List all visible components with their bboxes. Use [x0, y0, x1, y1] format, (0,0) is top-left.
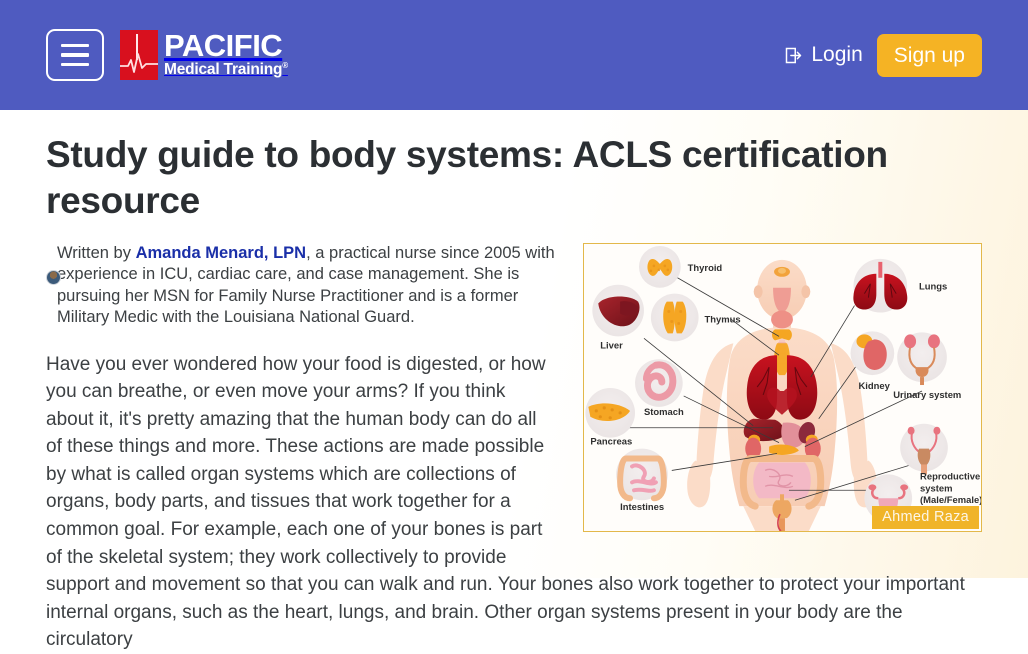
author-link[interactable]: Amanda Menard, LPN — [136, 244, 307, 262]
article-main: Study guide to body systems: ACLS certif… — [0, 110, 1028, 654]
organ-intestines — [616, 449, 668, 501]
svg-text:Urinary system: Urinary system — [893, 389, 961, 400]
hamburger-bar-1 — [61, 44, 89, 48]
svg-text:Stomach: Stomach — [644, 406, 684, 417]
page-title: Study guide to body systems: ACLS certif… — [46, 132, 946, 223]
sign-in-icon — [783, 45, 804, 66]
image-watermark: Ahmed Raza — [872, 506, 979, 529]
hamburger-bar-3 — [61, 63, 89, 67]
organ-stomach — [635, 359, 683, 407]
byline-prefix: Written by — [57, 244, 136, 262]
svg-text:Liver: Liver — [600, 339, 623, 350]
brand-name: PACIFIC — [164, 32, 288, 61]
svg-text:Kidney: Kidney — [858, 380, 890, 391]
login-link[interactable]: Login — [783, 43, 862, 67]
header-left-group: PACIFIC Medical Training® — [46, 29, 288, 81]
header-right-group: Login Sign up — [783, 34, 982, 77]
site-header: PACIFIC Medical Training® Login Sign up — [0, 0, 1028, 110]
author-avatar — [46, 270, 61, 285]
signup-button[interactable]: Sign up — [877, 34, 982, 77]
hamburger-bar-2 — [61, 53, 89, 57]
brand-wordmark: PACIFIC Medical Training® — [158, 30, 288, 80]
svg-text:(Male/Female): (Male/Female) — [920, 494, 981, 505]
brand-tagline: Medical Training® — [164, 62, 288, 78]
organ-kidney — [851, 331, 895, 375]
svg-text:Pancreas: Pancreas — [590, 436, 632, 447]
trademark-symbol: ® — [282, 61, 288, 70]
author-byline: Written by Amanda Menard, LPN, a practic… — [46, 243, 982, 329]
svg-text:Reproductive: Reproductive — [920, 470, 980, 481]
hamburger-menu-button[interactable] — [46, 29, 104, 81]
svg-text:Intestines: Intestines — [620, 501, 664, 512]
brand-logo-link[interactable]: PACIFIC Medical Training® — [120, 30, 288, 80]
organ-pancreas — [585, 388, 635, 438]
svg-text:system: system — [920, 482, 952, 493]
ecg-heartbeat-icon — [120, 30, 158, 80]
login-label: Login — [811, 43, 862, 67]
